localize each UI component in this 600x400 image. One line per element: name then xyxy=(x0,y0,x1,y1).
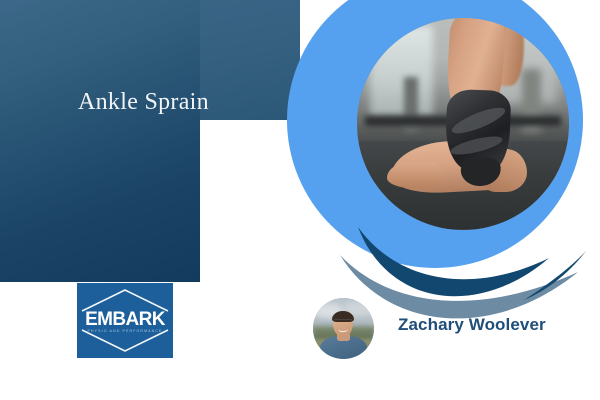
photo-window xyxy=(370,26,434,115)
embark-tagline: PHYSIO AND PERFORMANCE xyxy=(77,329,173,333)
embark-logo: EMBARK PHYSIO AND PERFORMANCE xyxy=(77,283,173,358)
presentation-title-slide: Ankle Sprain EMBARK PHYSIO AND PERFORMAN… xyxy=(0,0,600,400)
hero-photo xyxy=(357,18,569,230)
avatar-smile xyxy=(338,327,348,332)
avatar xyxy=(313,298,374,359)
embark-wordmark: EMBARK xyxy=(77,309,173,331)
page-title: Ankle Sprain xyxy=(78,89,209,116)
presenter-name: Zachary Woolever xyxy=(398,315,546,335)
glasses-icon xyxy=(334,319,352,324)
photo-toes xyxy=(387,162,442,187)
swoosh-wedge-navy xyxy=(524,251,586,300)
